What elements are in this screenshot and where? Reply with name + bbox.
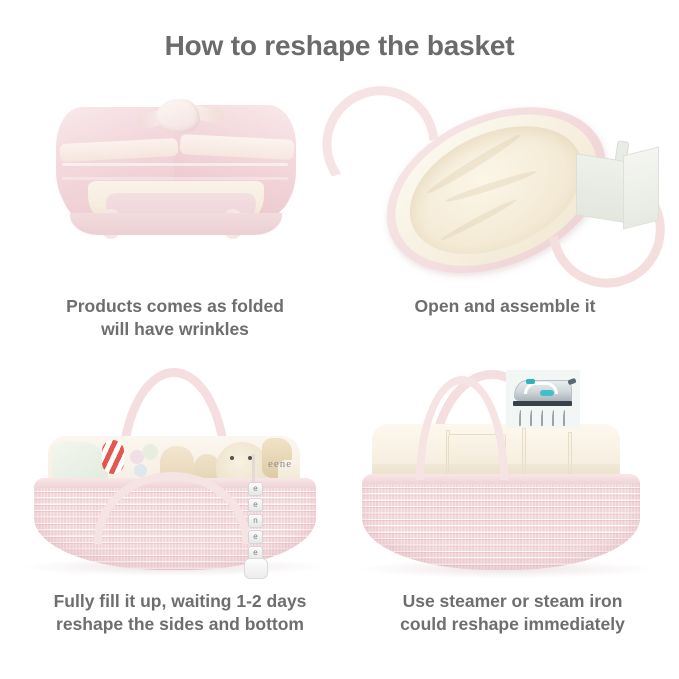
name-tag-string — [252, 454, 255, 484]
lining-crease — [439, 197, 518, 243]
step-2-panel: Open and assemble it — [340, 85, 670, 360]
name-tag-bead: e — [248, 498, 263, 512]
steam-iron-icon — [506, 370, 580, 428]
step-4-illustration — [350, 362, 675, 582]
folded-basket-base — [70, 213, 282, 235]
step-4-caption: Use steamer or steam iron could reshape … — [350, 590, 675, 636]
step-2-illustration — [340, 85, 670, 285]
step-3-caption: Fully fill it up, waiting 1-2 days resha… — [10, 590, 350, 636]
steam-wave — [541, 410, 544, 426]
step-2-caption: Open and assemble it — [340, 295, 670, 318]
step-1-caption: Products comes as folded will have wrink… — [10, 295, 340, 341]
iron-cord-tip — [567, 378, 576, 385]
iron-dial — [540, 390, 554, 396]
infographic-root: How to reshape the basket Products comes… — [0, 0, 679, 679]
steam-wave — [519, 410, 522, 426]
steam-wave — [552, 410, 555, 426]
iron-knob — [526, 379, 535, 384]
name-tag-charm — [244, 558, 268, 579]
divider-insert-panel-right — [623, 147, 659, 230]
step-4-panel: Use steamer or steam iron could reshape … — [350, 362, 675, 652]
folded-basket-tie-knot — [156, 99, 200, 133]
name-tag-bead: e — [248, 530, 263, 544]
name-tag-bead: n — [248, 514, 263, 528]
folded-basket-stripe — [62, 163, 288, 166]
step-3-illustration: e e n e e eene — [10, 362, 350, 582]
toy-bead — [142, 444, 158, 460]
step-3-panel: e e n e e eene Fully fill it up, waiting… — [10, 362, 350, 652]
empty-basket-body — [362, 474, 640, 570]
basket-monogram: eene — [268, 458, 292, 470]
iron-soleplate — [513, 401, 572, 406]
steam-wave — [530, 410, 533, 426]
divider-insert-panel-left — [576, 153, 624, 223]
name-tag-bead: e — [248, 482, 263, 496]
page-title: How to reshape the basket — [0, 30, 679, 62]
step-1-panel: Products comes as folded will have wrink… — [10, 85, 340, 360]
divider-insert — [576, 137, 662, 233]
step-1-illustration — [10, 85, 340, 285]
toy-striped-candy — [102, 440, 124, 474]
plush-eye — [230, 456, 234, 460]
steam-wave — [563, 410, 566, 426]
folded-basket-stripe — [62, 177, 288, 180]
